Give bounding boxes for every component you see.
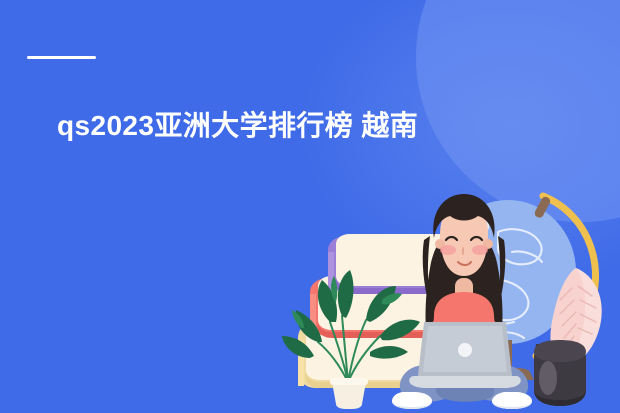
laptop-icon	[409, 322, 521, 388]
student-studying-illustration	[0, 0, 620, 413]
article-cover-banner: qs2023亚洲大学排行榜 越南	[0, 0, 620, 413]
